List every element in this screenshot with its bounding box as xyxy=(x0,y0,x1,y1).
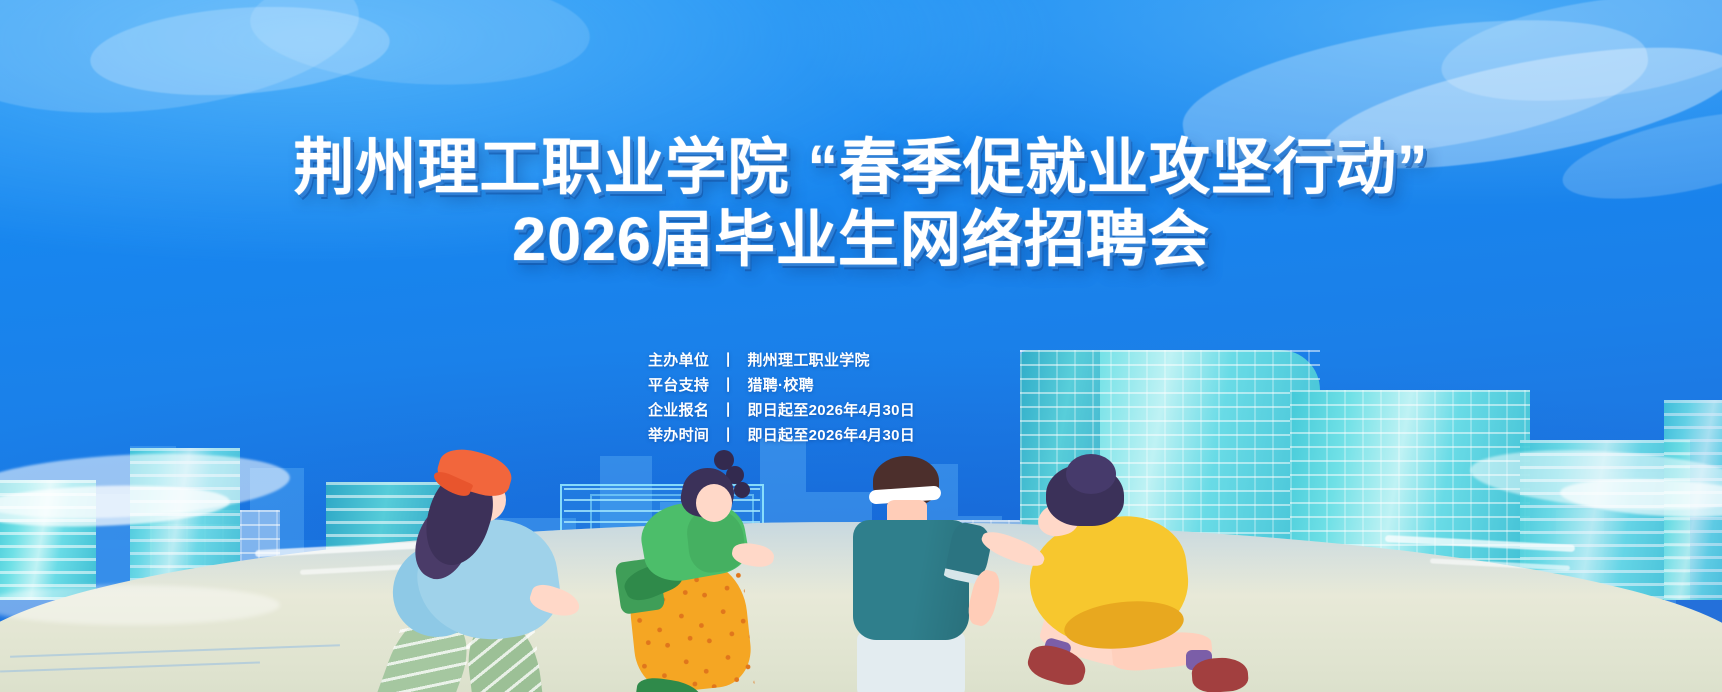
info-row-platform: 平台支持 丨 猎聘·校聘 xyxy=(648,373,978,398)
info-separator: 丨 xyxy=(714,423,743,448)
info-value: 荆州理工职业学院 xyxy=(747,352,869,369)
runner-yellow-dress xyxy=(1020,452,1270,692)
info-label: 企业报名 xyxy=(648,398,709,423)
event-info-block: 主办单位 丨 荆州理工职业学院 平台支持 丨 猎聘·校聘 企业报名 丨 即日起至… xyxy=(648,348,978,448)
info-value: 猎聘·校聘 xyxy=(747,377,814,394)
runner-face xyxy=(696,484,732,522)
runner-shoe xyxy=(1191,656,1249,692)
info-label: 平台支持 xyxy=(648,373,709,398)
info-label: 主办单位 xyxy=(648,348,709,373)
info-label: 举办时间 xyxy=(648,423,709,448)
recruitment-banner: 荆州理工职业学院 “春季促就业攻坚行动” 2026届毕业生网络招聘会 主办单位 … xyxy=(0,0,1722,692)
info-value: 即日起至2026年4月30日 xyxy=(747,402,915,419)
info-row-event-time: 举办时间 丨 即日起至2026年4月30日 xyxy=(648,423,978,448)
runner-orange-cap xyxy=(410,448,630,692)
info-separator: 丨 xyxy=(714,348,743,373)
info-row-organizer: 主办单位 丨 荆州理工职业学院 xyxy=(648,348,978,373)
info-value: 即日起至2026年4月30日 xyxy=(747,427,915,444)
runner-star-jersey xyxy=(845,448,1025,692)
runner-green-hoodie xyxy=(640,448,800,692)
info-row-registration: 企业报名 丨 即日起至2026年4月30日 xyxy=(648,398,978,423)
runner-hair xyxy=(1066,454,1116,494)
info-separator: 丨 xyxy=(714,373,743,398)
info-separator: 丨 xyxy=(714,398,743,423)
